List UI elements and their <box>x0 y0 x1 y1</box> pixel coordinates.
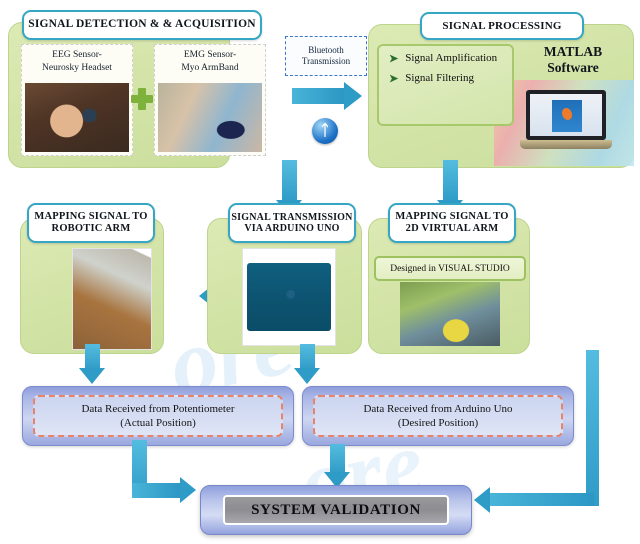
arrow-arm-to-actual-shaft <box>85 344 100 370</box>
system-validation-box: SYSTEM VALIDATION <box>200 485 472 535</box>
stage3-title: MAPPING SIGNAL TO ROBOTIC ARM <box>27 203 155 243</box>
arrow-proc-to-arduino-shaft <box>282 160 297 202</box>
bluetooth-transmission-box: Bluetooth Transmission <box>285 36 367 76</box>
matlab-software-label: MATLAB Software <box>518 44 628 76</box>
stage5-title: MAPPING SIGNAL TO 2D VIRTUAL ARM <box>388 203 516 243</box>
arduino-card <box>242 248 336 346</box>
diagram-canvas: ore ore SIGNAL DETECTION & & ACQUISITION… <box>0 0 640 544</box>
plus-combiner-icon <box>131 88 153 110</box>
emg-armband-photo <box>158 83 262 152</box>
data-actual-position-inner: Data Received from Potentiometer (Actual… <box>33 395 283 437</box>
arrow-arduino-to-desired-head <box>294 368 320 384</box>
system-validation-inner: SYSTEM VALIDATION <box>223 495 449 525</box>
stage4-title-line2: VIA ARDUINO UNO <box>244 223 339 234</box>
data-actual-position-box: Data Received from Potentiometer (Actual… <box>22 386 294 446</box>
arrow-virtual-to-validation-vertical <box>586 350 599 506</box>
eeg-headset-photo <box>25 83 129 152</box>
data-desired-position-box: Data Received from Arduino Uno (Desired … <box>302 386 574 446</box>
eeg-sensor-card: EEG Sensor- Neurosky Headset <box>21 44 133 156</box>
data-actual-line2: (Actual Position) <box>120 417 195 429</box>
arrow-arm-to-actual-head <box>79 368 105 384</box>
stage4-title-line1: SIGNAL TRANSMISSION <box>231 212 352 223</box>
arrow-arduino-to-desired-shaft <box>300 344 315 370</box>
eeg-label-line2: Neurosky Headset <box>42 63 112 73</box>
bullet-label: Signal Amplification <box>405 52 497 65</box>
arrow-bluetooth-shaft <box>292 88 344 104</box>
visual-studio-banner: Designed in VISUAL STUDIO <box>374 256 526 281</box>
data-desired-position-inner: Data Received from Arduino Uno (Desired … <box>313 395 563 437</box>
stage3-title-line2: ROBOTIC ARM <box>52 223 131 234</box>
bluetooth-icon: ᛏ <box>312 118 338 144</box>
stage5-title-line1: MAPPING SIGNAL TO <box>395 211 508 222</box>
stage2-title: SIGNAL PROCESSING <box>420 12 584 40</box>
arrow-actual-to-validation-horizontal <box>132 483 180 498</box>
emg-label-line2: Myo ArmBand <box>181 63 238 73</box>
bullet-arrow-icon: ➤ <box>389 72 398 86</box>
matlab-laptop-photo <box>518 88 614 160</box>
emg-label-line1: EMG Sensor- <box>184 50 236 60</box>
arrow-proc-to-virtual-shaft <box>443 160 458 202</box>
robotic-arm-card <box>72 248 152 350</box>
arrow-bluetooth-head <box>344 82 362 110</box>
virtual-arm-demo-photo <box>400 282 500 346</box>
arrow-desired-to-validation-shaft <box>330 444 345 474</box>
arduino-uno-photo <box>247 263 331 331</box>
matlab-label-line1: MATLAB <box>544 44 602 59</box>
data-desired-line1: Data Received from Arduino Uno <box>363 403 512 415</box>
bullet-label: Signal Filtering <box>405 72 474 85</box>
arrow-actual-to-validation-head <box>180 477 196 503</box>
stage1-title: SIGNAL DETECTION & & ACQUISITION <box>22 10 262 40</box>
matlab-label-line2: Software <box>547 60 599 75</box>
data-actual-line1: Data Received from Potentiometer <box>81 403 234 415</box>
robotic-arm-photo <box>73 249 151 349</box>
bluetooth-label-line2: Transmission <box>302 56 350 66</box>
data-desired-line2: (Desired Position) <box>398 417 478 429</box>
stage5-title-line2: 2D VIRTUAL ARM <box>406 223 499 234</box>
stage3-title-line1: MAPPING SIGNAL TO <box>34 211 147 222</box>
bullet-item: ➤ Signal Amplification <box>389 52 508 66</box>
bullet-arrow-icon: ➤ <box>389 52 398 66</box>
virtual-arm-card <box>400 282 500 346</box>
arrow-virtual-to-validation-horizontal <box>490 493 594 506</box>
bullet-item: ➤ Signal Filtering <box>389 72 508 86</box>
stage4-title: SIGNAL TRANSMISSION VIA ARDUINO UNO <box>228 203 356 243</box>
eeg-label-line1: EEG Sensor- <box>52 50 102 60</box>
arrow-virtual-to-validation-head <box>474 487 490 513</box>
bluetooth-label-line1: Bluetooth <box>308 45 344 55</box>
stage2-bullets-box: ➤ Signal Amplification ➤ Signal Filterin… <box>377 44 514 126</box>
emg-sensor-card: EMG Sensor- Myo ArmBand <box>154 44 266 156</box>
